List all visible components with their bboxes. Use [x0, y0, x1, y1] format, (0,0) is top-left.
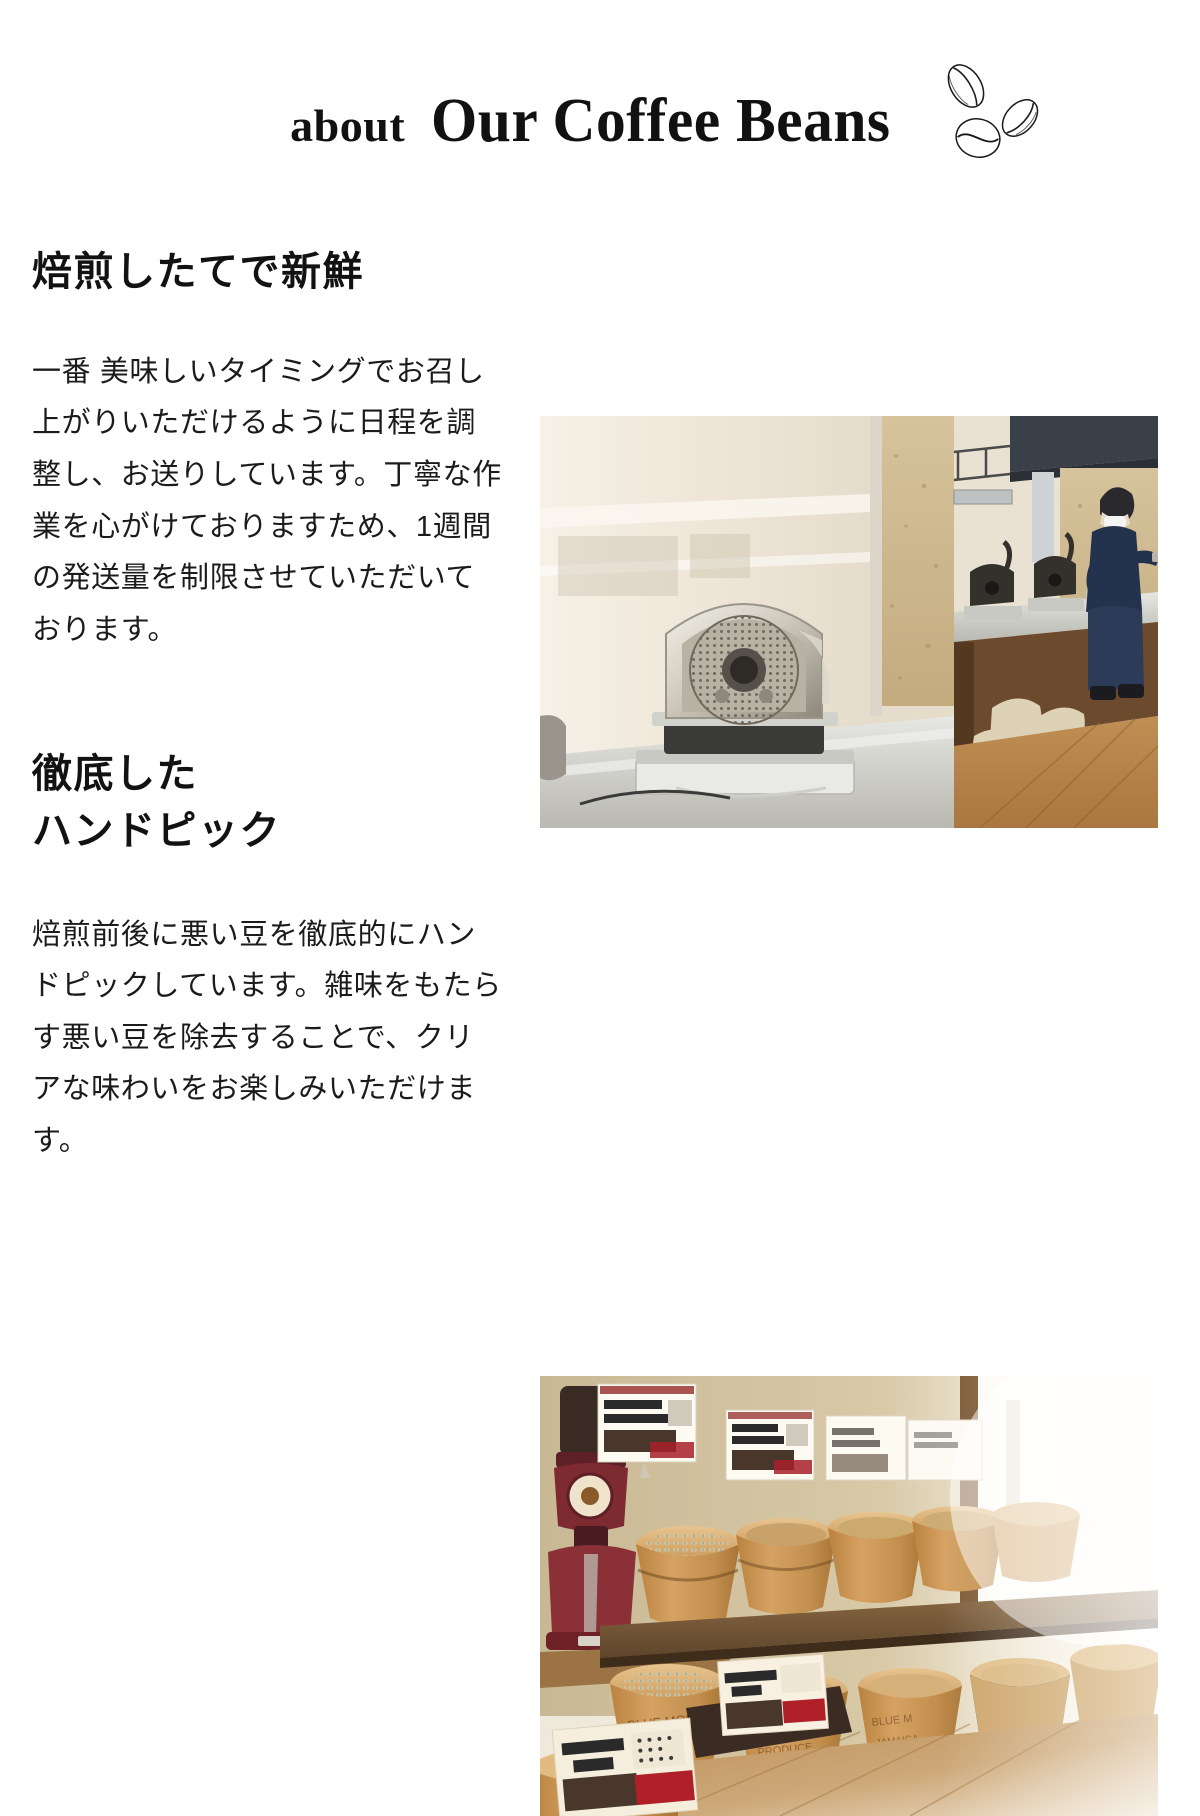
section-hand-pick: 徹底した ハンドピック 焙煎前後に悪い豆を徹底的にハンドピックしています。雑味を…: [0, 688, 1200, 1128]
handpick-body-text: 焙煎前後に悪い豆を徹底的にハンドピックしています。雑味をもたらす悪い豆を除去する…: [32, 860, 502, 1168]
page-title: Our Coffee Beans: [431, 90, 891, 152]
handpick-text-column: 徹底した ハンドピック 焙煎前後に悪い豆を徹底的にハンドピックしています。雑味を…: [32, 688, 502, 1168]
fresh-heading: 焙煎したてで新鮮: [32, 208, 502, 301]
handpick-heading: 徹底した ハンドピック: [32, 688, 502, 860]
header-about-word: about: [290, 103, 405, 149]
page-root: about Our Coffee Beans: [0, 0, 1200, 1200]
bean-barrels-photo: BLUE MOUN COFFEE BLUE MOU PRODUCE: [540, 1376, 1158, 1816]
coffee-beans-icon: [936, 62, 1044, 166]
fresh-text-column: 焙煎したてで新鮮 一番 美味しいタイミングでお召し上がりいただけるように日程を調…: [32, 208, 502, 656]
fresh-body-text: 一番 美味しいタイミングでお召し上がりいただけるように日程を調整し、お送りしてい…: [32, 301, 502, 657]
section-fresh-roast: 焙煎したてで新鮮 一番 美味しいタイミングでお召し上がりいただけるように日程を調…: [0, 208, 1200, 628]
